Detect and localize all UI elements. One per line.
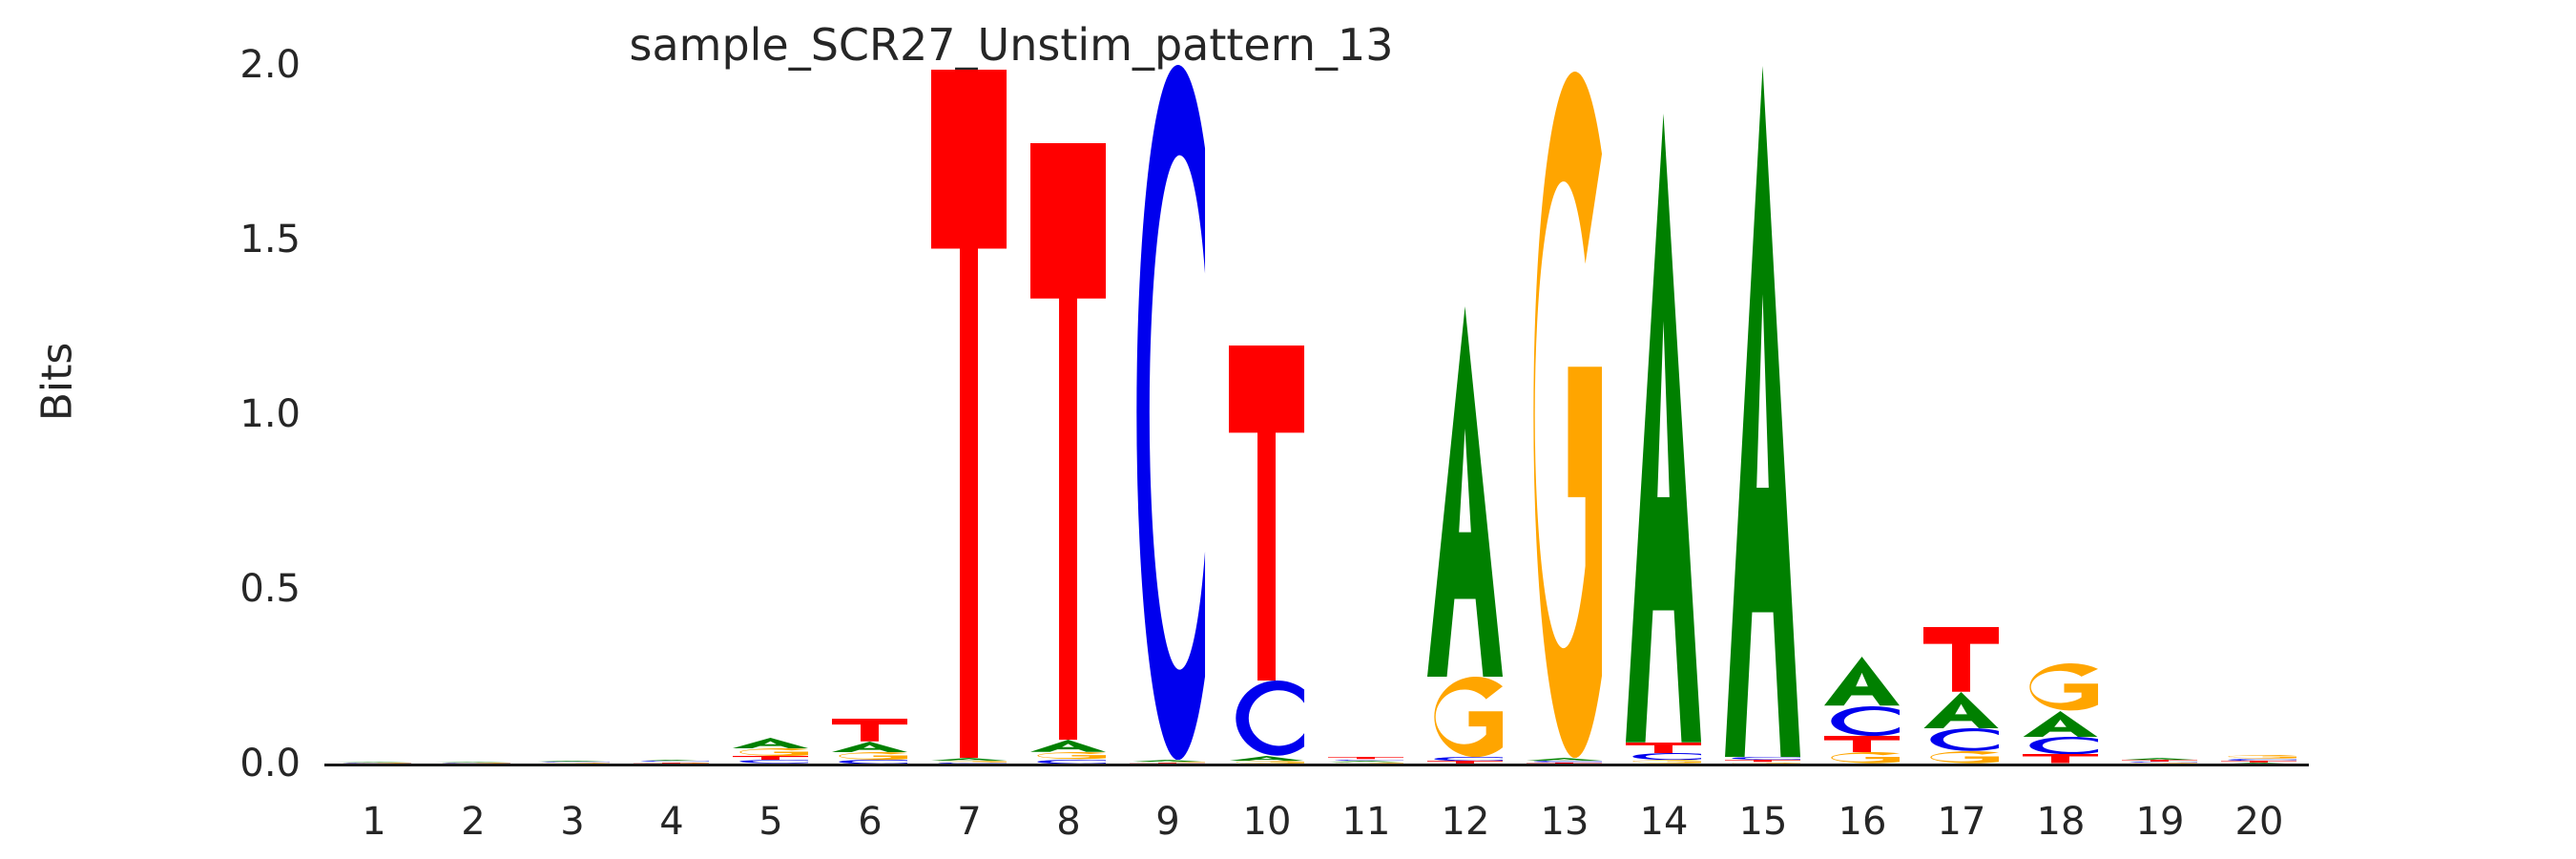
logo-stack [832, 719, 907, 764]
x-tick-label: 11 [1342, 800, 1391, 844]
logo-letter-a [1626, 114, 1701, 743]
x-tick-label: 13 [1541, 800, 1589, 844]
y-tick-label: 1.5 [186, 218, 301, 262]
logo-stack [1626, 114, 1701, 764]
logo-stack [931, 70, 1007, 764]
logo-letter-a [1030, 740, 1106, 752]
x-tick-label: 18 [2037, 800, 2086, 844]
logo-letter-a [1725, 66, 1800, 758]
x-tick-label: 3 [560, 800, 584, 844]
x-tick-label: 20 [2235, 800, 2284, 844]
y-tick-label: 0.5 [186, 567, 301, 611]
x-tick-label: 14 [1640, 800, 1689, 844]
plot-area [324, 65, 2309, 764]
logo-letter-t [1824, 736, 1900, 753]
logo-stack [1130, 65, 1205, 764]
x-tick-label: 10 [1243, 800, 1292, 844]
logo-letter-c [1626, 753, 1701, 760]
logo-letter-t [931, 70, 1007, 758]
logo-letter-t [832, 719, 907, 742]
logo-letter-g [1427, 677, 1503, 757]
logo-letter-c [1923, 728, 1999, 751]
logo-stack [2023, 663, 2098, 764]
logo-stack [733, 738, 808, 764]
y-tick-label: 2.0 [186, 43, 301, 87]
logo-letter-g [2023, 663, 2098, 710]
logo-stack [2221, 755, 2296, 764]
x-tick-label: 7 [957, 800, 981, 844]
x-tick-label: 9 [1155, 800, 1179, 844]
logo-letter-a [1427, 306, 1503, 677]
x-tick-label: 16 [1839, 800, 1887, 844]
logo-letter-a [1923, 692, 1999, 728]
logo-letter-g [1030, 752, 1106, 759]
logo-letter-t [1923, 627, 1999, 692]
logo-letter-g [1824, 752, 1900, 764]
logo-letter-t [1626, 743, 1701, 753]
x-tick-label: 1 [362, 800, 385, 844]
x-tick-label: 8 [1056, 800, 1080, 844]
logo-letter-c [1824, 706, 1900, 736]
logo-stack [1229, 346, 1304, 764]
logo-letter-g [832, 752, 907, 760]
logo-letter-a [733, 738, 808, 748]
logo-letter-g [1527, 72, 1602, 758]
logo-letter-c [1229, 681, 1304, 756]
x-tick-label: 6 [858, 800, 882, 844]
logo-letter-g [733, 748, 808, 756]
x-tick-label: 12 [1442, 800, 1490, 844]
logo-letter-t [1229, 346, 1304, 681]
x-tick-label: 4 [659, 800, 683, 844]
logo-stack [1030, 143, 1106, 764]
x-tick-label: 17 [1938, 800, 1986, 844]
x-tick-label: 5 [758, 800, 782, 844]
x-tick-label: 2 [461, 800, 485, 844]
sequence-logo-figure: sample_SCR27_Unstim_pattern_13 Bits 0.00… [0, 0, 2576, 859]
x-axis-line [324, 764, 2309, 766]
logo-stack [1725, 66, 1800, 764]
logo-stack [1824, 657, 1900, 764]
logo-letter-c [1130, 65, 1205, 760]
y-tick-label: 1.0 [186, 392, 301, 436]
y-axis-label: Bits [33, 343, 82, 422]
page-title: sample_SCR27_Unstim_pattern_13 [0, 19, 2299, 71]
logo-letter-t [1030, 143, 1106, 741]
logo-letter-t [2023, 754, 2098, 764]
logo-letter-g [1923, 751, 1999, 764]
logo-stack [1328, 757, 1403, 764]
y-tick-label: 0.0 [186, 742, 301, 786]
logo-stack [1427, 306, 1503, 764]
logo-letter-c [2023, 737, 2098, 754]
logo-letter-a [2023, 711, 2098, 737]
logo-letter-a [1824, 657, 1900, 705]
x-tick-label: 15 [1739, 800, 1788, 844]
logo-stack [1527, 72, 1602, 764]
logo-letter-a [832, 742, 907, 752]
x-tick-label: 19 [2136, 800, 2185, 844]
logo-stack [1923, 627, 1999, 764]
